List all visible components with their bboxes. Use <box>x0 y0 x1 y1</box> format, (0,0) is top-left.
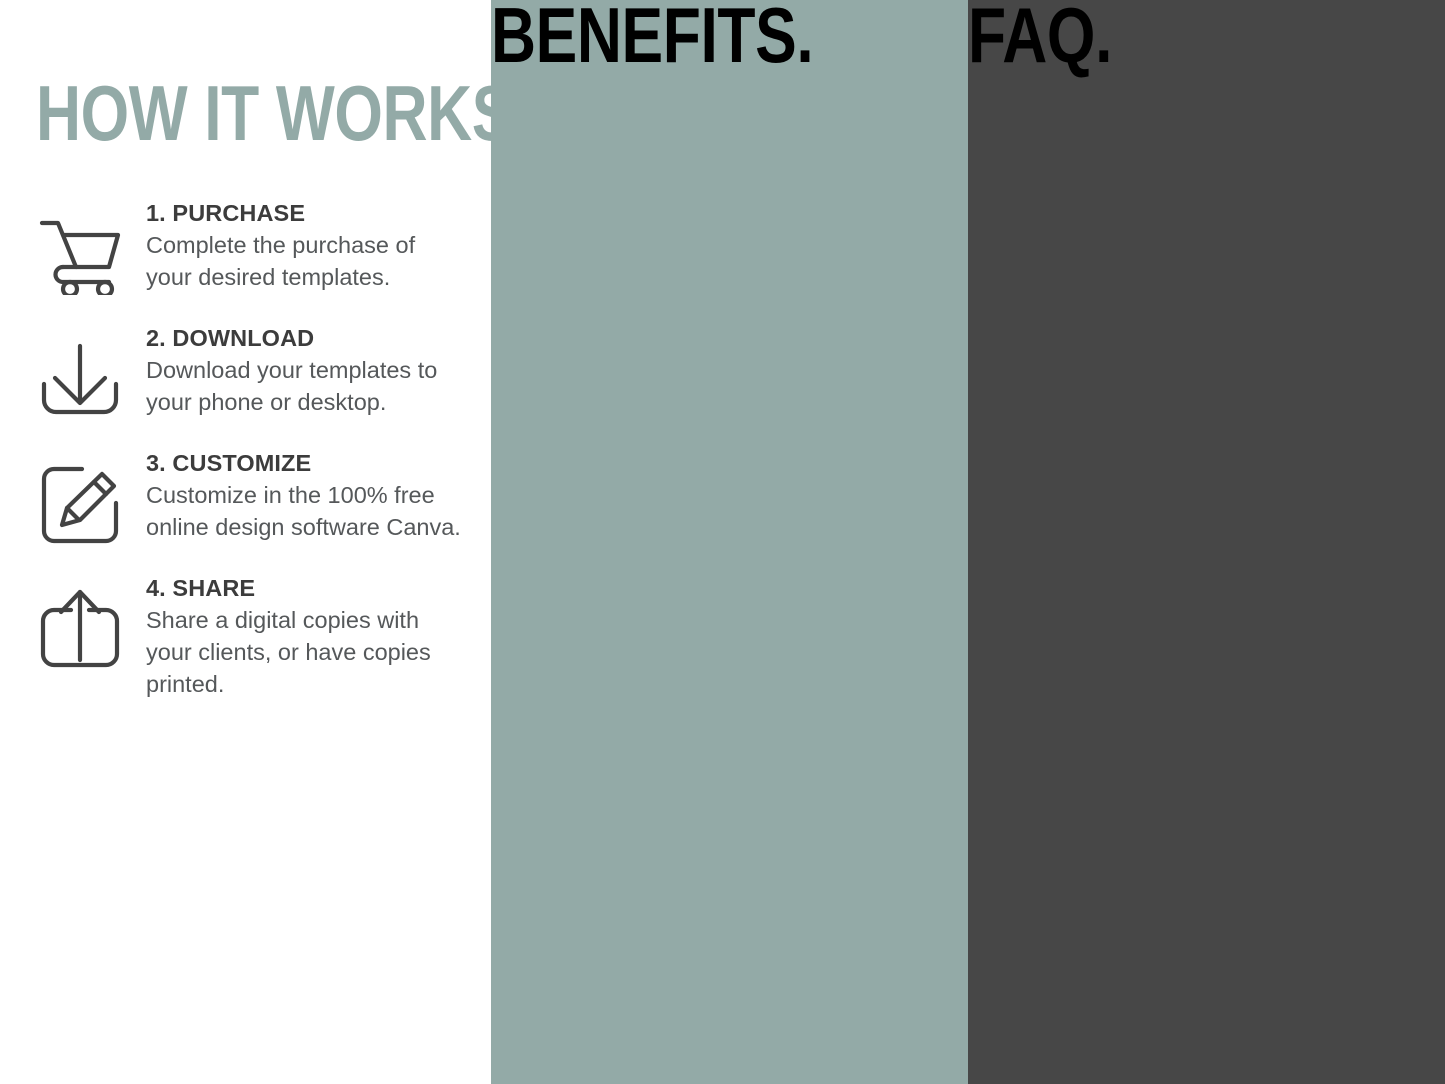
faq-title: FAQ. <box>968 0 1350 72</box>
faq-column: FAQ. WHAT IS INCLUDED? 100 x Prewritten … <box>968 0 1445 1084</box>
step-body: Share a digital copies with your clients… <box>146 605 466 701</box>
list-item: 2. DOWNLOAD Download your templates to y… <box>28 321 473 425</box>
share-upload-icon <box>28 571 132 675</box>
step-title: 2. DOWNLOAD <box>146 323 466 354</box>
list-item: 3. CUSTOMIZE Customize in the 100% free … <box>28 446 473 550</box>
benefits-title: BENEFITS. <box>491 0 873 72</box>
step-title: 1. PURCHASE <box>146 198 466 229</box>
how-it-works-column: HOW IT WORKS 1. PURCHASE Complete the pu… <box>0 0 491 1084</box>
how-it-works-title: HOW IT WORKS <box>36 78 513 150</box>
shopping-cart-icon <box>28 196 132 300</box>
step-title: 4. SHARE <box>146 573 466 604</box>
step-title: 3. CUSTOMIZE <box>146 448 466 479</box>
list-item: 4. SHARE Share a digital copies with you… <box>28 571 473 701</box>
step-body: Download your templates to your phone or… <box>146 355 466 419</box>
download-icon <box>28 321 132 425</box>
step-body: Customize in the 100% free online design… <box>146 480 466 544</box>
step-text-block: 3. CUSTOMIZE Customize in the 100% free … <box>132 446 466 544</box>
step-text-block: 2. DOWNLOAD Download your templates to y… <box>132 321 466 419</box>
how-it-works-step-list: 1. PURCHASE Complete the purchase of you… <box>28 196 473 722</box>
benefits-column: BENEFITS. SAVE 100'S OF HOURS IN DESIGN … <box>491 0 968 1084</box>
list-item: 1. PURCHASE Complete the purchase of you… <box>28 196 473 300</box>
edit-pencil-icon <box>28 446 132 550</box>
step-text-block: 4. SHARE Share a digital copies with you… <box>132 571 466 701</box>
step-text-block: 1. PURCHASE Complete the purchase of you… <box>132 196 466 294</box>
promo-info-graphic: HOW IT WORKS 1. PURCHASE Complete the pu… <box>0 0 1445 1084</box>
step-body: Complete the purchase of your desired te… <box>146 230 466 294</box>
